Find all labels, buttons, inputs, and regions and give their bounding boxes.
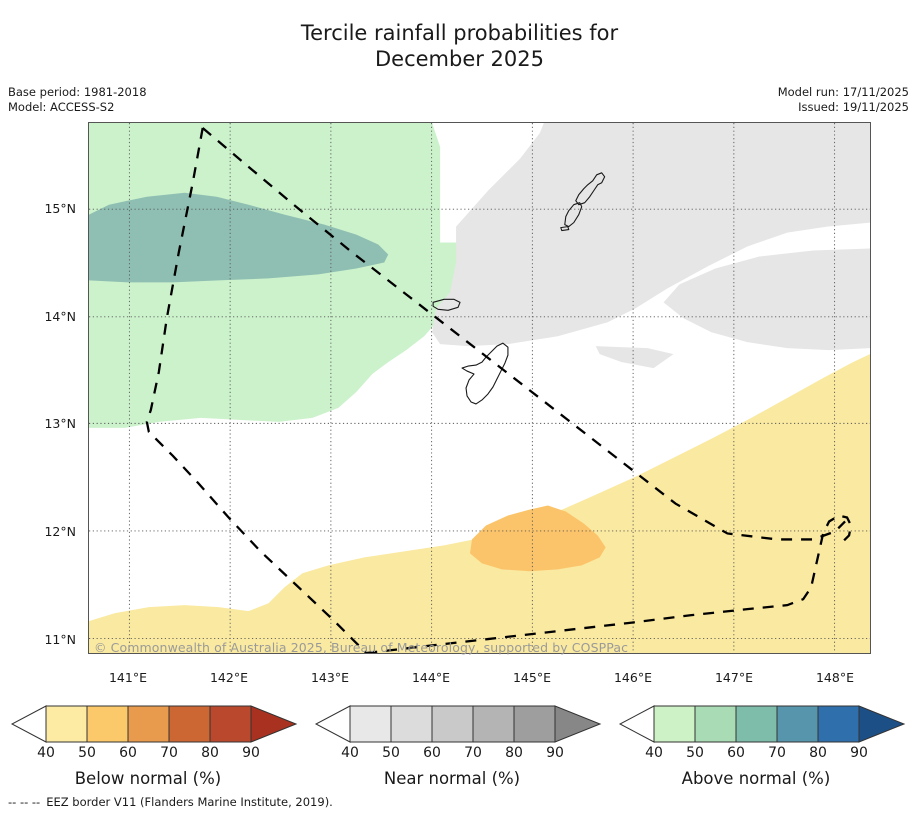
issued-text: Issued: 19/11/2025: [778, 100, 909, 115]
cb2-tick-80: 80: [505, 745, 523, 761]
cb1-tick-90: 90: [242, 745, 260, 761]
eez-dash-sample: -- -- --: [8, 795, 40, 809]
cb2-tick-90: 90: [546, 745, 564, 761]
x-tick-143E: 143°E: [285, 670, 375, 685]
x-tick-145E: 145°E: [487, 670, 577, 685]
cb2-band-60-70: [432, 706, 473, 742]
cb1-tick-60: 60: [119, 745, 137, 761]
colorbar-below-normal-gradient: [8, 704, 304, 744]
eez-legend: -- -- -- EEZ border V11 (Flanders Marine…: [8, 795, 333, 809]
cb1-band-40-50: [46, 706, 87, 742]
cb2-band-50-60: [391, 706, 432, 742]
cb3-over-arrow: [859, 706, 904, 742]
cb1-band-50-60: [87, 706, 128, 742]
cb3-tick-80: 80: [809, 745, 827, 761]
eez-legend-text: EEZ border V11 (Flanders Marine Institut…: [46, 795, 333, 809]
base-period-text: Base period: 1981-2018: [8, 85, 147, 100]
map-svg: [89, 123, 870, 653]
cb3-tick-40: 40: [645, 745, 663, 761]
y-tick-14N: 14°N: [14, 309, 76, 324]
page-title: Tercile rainfall probabilities for Decem…: [0, 20, 919, 72]
colorbar-near-normal-ticks: 40 50 60 70 80 90: [312, 745, 608, 765]
cb1-band-60-70: [128, 706, 169, 742]
colorbar-above-normal-gradient: [616, 704, 912, 744]
cb2-tick-60: 60: [423, 745, 441, 761]
cb3-band-80-90: [818, 706, 859, 742]
copyright-watermark: © Commonwealth of Australia 2025, Bureau…: [94, 640, 628, 655]
colorbar-above-normal-title: Above normal (%): [616, 769, 896, 788]
cb2-band-80-90: [514, 706, 555, 742]
y-tick-13N: 13°N: [14, 416, 76, 431]
colorbar-near-normal-gradient: [312, 704, 608, 744]
cb2-tick-40: 40: [341, 745, 359, 761]
y-tick-12N: 12°N: [14, 524, 76, 539]
cb1-tick-70: 70: [160, 745, 178, 761]
y-tick-15N: 15°N: [14, 201, 76, 216]
map-plot[interactable]: [88, 122, 871, 654]
cb2-band-70-80: [473, 706, 514, 742]
colorbar-above-normal-ticks: 40 50 60 70 80 90: [616, 745, 912, 765]
cb2-over-arrow: [555, 706, 600, 742]
colorbar-below-normal-title: Below normal (%): [8, 769, 288, 788]
y-tick-11N: 11°N: [14, 632, 76, 647]
cb2-under-arrow: [316, 706, 350, 742]
cb2-tick-50: 50: [382, 745, 400, 761]
cb3-tick-70: 70: [768, 745, 786, 761]
x-tick-144E: 144°E: [386, 670, 476, 685]
colorbar-above-normal[interactable]: 40 50 60 70 80 90 Above normal (%): [616, 704, 912, 790]
colorbar-near-normal[interactable]: 40 50 60 70 80 90 Near normal (%): [312, 704, 608, 790]
cb1-band-80-90: [210, 706, 251, 742]
cb2-band-40-50: [350, 706, 391, 742]
cb1-under-arrow: [12, 706, 46, 742]
cb3-band-70-80: [777, 706, 818, 742]
metadata-left: Base period: 1981-2018 Model: ACCESS-S2: [8, 85, 147, 115]
cb3-tick-90: 90: [850, 745, 868, 761]
cb1-tick-50: 50: [78, 745, 96, 761]
x-tick-147E: 147°E: [689, 670, 779, 685]
cb3-band-50-60: [695, 706, 736, 742]
cb1-band-70-80: [169, 706, 210, 742]
cb2-tick-70: 70: [464, 745, 482, 761]
x-tick-141E: 141°E: [83, 670, 173, 685]
cb3-band-60-70: [736, 706, 777, 742]
cb1-tick-40: 40: [37, 745, 55, 761]
cb1-over-arrow: [251, 706, 296, 742]
metadata-right: Model run: 17/11/2025 Issued: 19/11/2025: [778, 85, 909, 115]
x-tick-142E: 142°E: [184, 670, 274, 685]
colorbar-near-normal-title: Near normal (%): [312, 769, 592, 788]
x-tick-148E: 148°E: [790, 670, 880, 685]
colorbar-below-normal-ticks: 40 50 60 70 80 90: [8, 745, 304, 765]
cb3-tick-50: 50: [686, 745, 704, 761]
cb3-band-40-50: [654, 706, 695, 742]
cb3-tick-60: 60: [727, 745, 745, 761]
x-tick-146E: 146°E: [588, 670, 678, 685]
model-text: Model: ACCESS-S2: [8, 100, 147, 115]
colorbar-below-normal[interactable]: 40 50 60 70 80 90 Below normal (%): [8, 704, 304, 790]
cb3-under-arrow: [620, 706, 654, 742]
cb1-tick-80: 80: [201, 745, 219, 761]
model-run-text: Model run: 17/11/2025: [778, 85, 909, 100]
